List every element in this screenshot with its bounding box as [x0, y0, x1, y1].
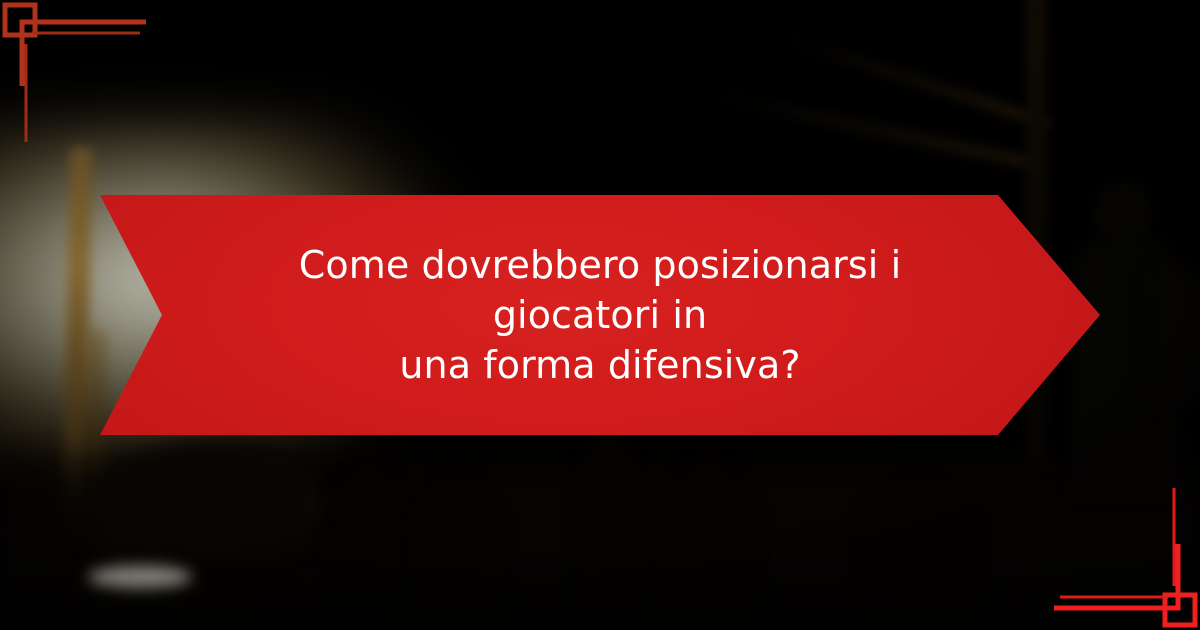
headline-text: Come dovrebbero posizionarsi i giocatori… [220, 240, 980, 390]
headline-line-1: Come dovrebbero posizionarsi i giocatori… [220, 240, 980, 340]
banner-stage: Come dovrebbero posizionarsi i giocatori… [0, 0, 1200, 630]
headline-line-2: una forma difensiva? [220, 340, 980, 390]
headline-banner: Come dovrebbero posizionarsi i giocatori… [100, 195, 1100, 435]
